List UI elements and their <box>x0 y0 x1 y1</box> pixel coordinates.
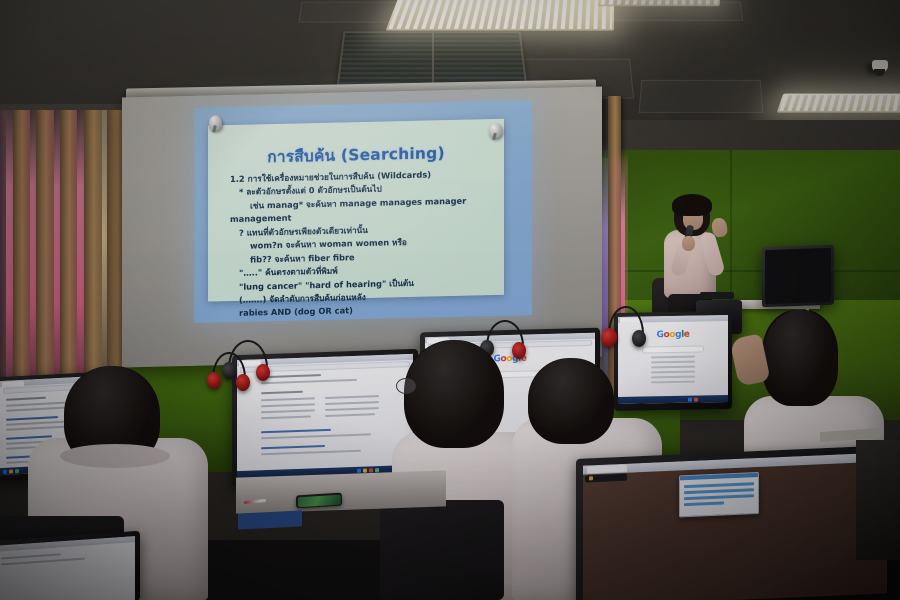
browser-chrome <box>583 452 887 474</box>
student-center-head <box>528 358 614 444</box>
warning-icon <box>589 476 593 480</box>
google-search-box[interactable] <box>642 345 704 353</box>
windows-taskbar[interactable] <box>618 395 728 404</box>
browser-dialog[interactable] <box>679 472 759 517</box>
pushpin-icon <box>489 123 502 138</box>
monitor-foreground-left[interactable] <box>0 531 140 600</box>
ceiling-security-camera <box>872 60 888 72</box>
chair-back-center <box>380 500 504 600</box>
student-right-head <box>762 310 838 406</box>
slide-title: การสืบค้น (Searching) <box>208 139 504 171</box>
monitor-foreground-right[interactable] <box>576 445 894 600</box>
eyeglasses-icon <box>396 378 416 394</box>
classroom-photo-scene: การสืบค้น (Searching) 1.2 การใช้เครื่องห… <box>0 0 900 600</box>
google-logo: Google <box>656 330 689 341</box>
monitor-foreground-right-screen[interactable] <box>583 452 887 600</box>
equipment-rack <box>856 440 900 560</box>
ceiling-light-fixture <box>777 94 900 113</box>
dialog-titlebar <box>680 473 758 480</box>
pushpin-icon <box>209 115 222 130</box>
monitor-rear-right[interactable] <box>762 245 834 308</box>
projected-slide: การสืบค้น (Searching) 1.2 การใช้เครื่องห… <box>194 100 532 323</box>
ceiling-air-vent <box>336 31 527 89</box>
student-desk <box>236 470 446 513</box>
monitor-foreground-left-screen[interactable] <box>0 536 135 600</box>
google-result-links[interactable] <box>651 356 695 387</box>
ceiling-tile <box>639 80 764 113</box>
mousepad <box>238 510 302 529</box>
ceiling-light-fixture <box>598 0 720 6</box>
student-far-left-collar <box>60 444 170 468</box>
ceiling-light-fixture <box>386 0 615 31</box>
presenter-hand-left <box>682 236 695 251</box>
presenter-hair <box>672 194 712 216</box>
student-center-left-head <box>404 340 504 448</box>
slide-card: การสืบค้น (Searching) 1.2 การใช้เครื่องห… <box>208 119 504 302</box>
slide-body: 1.2 การใช้เครื่องหมายช่วยในการสืบค้น (Wi… <box>230 167 494 321</box>
browser-chrome <box>0 536 135 552</box>
equipment-box <box>700 292 734 299</box>
